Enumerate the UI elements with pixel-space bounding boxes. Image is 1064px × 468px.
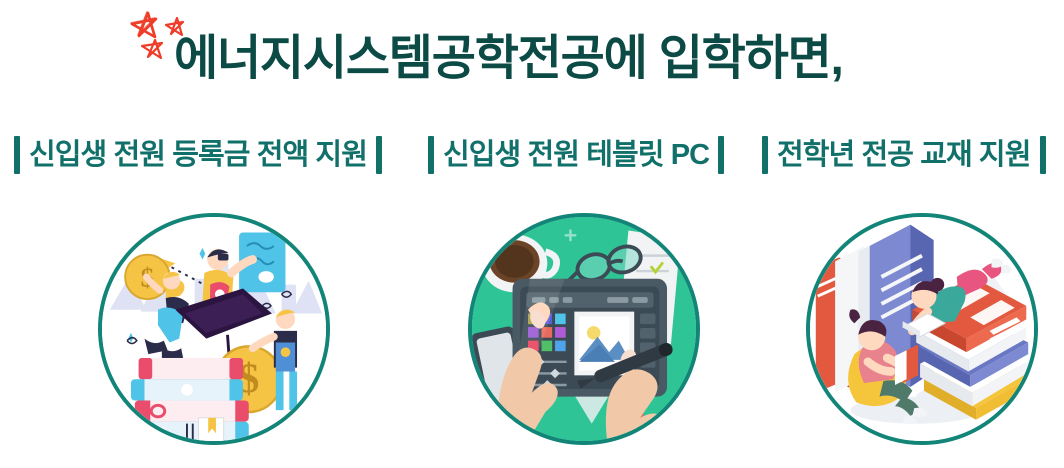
- bar-left-icon: [14, 136, 20, 174]
- benefit-label-text: 전학년 전공 교재 지원: [777, 136, 1031, 174]
- illustrations-row: $: [0, 211, 1064, 468]
- benefit-label-text: 신입생 전원 등록금 전액 지원: [29, 136, 367, 174]
- benefit-label-tablet: 신입생 전원 테블릿 PC: [428, 126, 724, 184]
- bar-right-icon: [718, 136, 724, 174]
- bar-right-icon: [1040, 136, 1046, 174]
- benefit-labels-row: 신입생 전원 등록금 전액 지원 신입생 전원 테블릿 PC 전학년 전공 교재…: [0, 126, 1064, 184]
- bar-right-icon: [376, 136, 382, 174]
- bar-left-icon: [762, 136, 768, 174]
- benefit-label-text: 신입생 전원 테블릿 PC: [443, 136, 709, 174]
- illustration-tablet-stylus: [468, 213, 700, 445]
- title-row: 에너지시스템공학전공에 입학하면,: [0, 0, 1064, 112]
- page-title: 에너지시스템공학전공에 입학하면,: [174, 27, 843, 91]
- illustration-students-textbooks: [806, 213, 1038, 445]
- benefit-label-tuition: 신입생 전원 등록금 전액 지원: [14, 126, 382, 184]
- bar-left-icon: [428, 136, 434, 174]
- illustration-scholarship-books-money: $: [98, 213, 330, 445]
- benefit-label-textbooks: 전학년 전공 교재 지원: [762, 126, 1046, 184]
